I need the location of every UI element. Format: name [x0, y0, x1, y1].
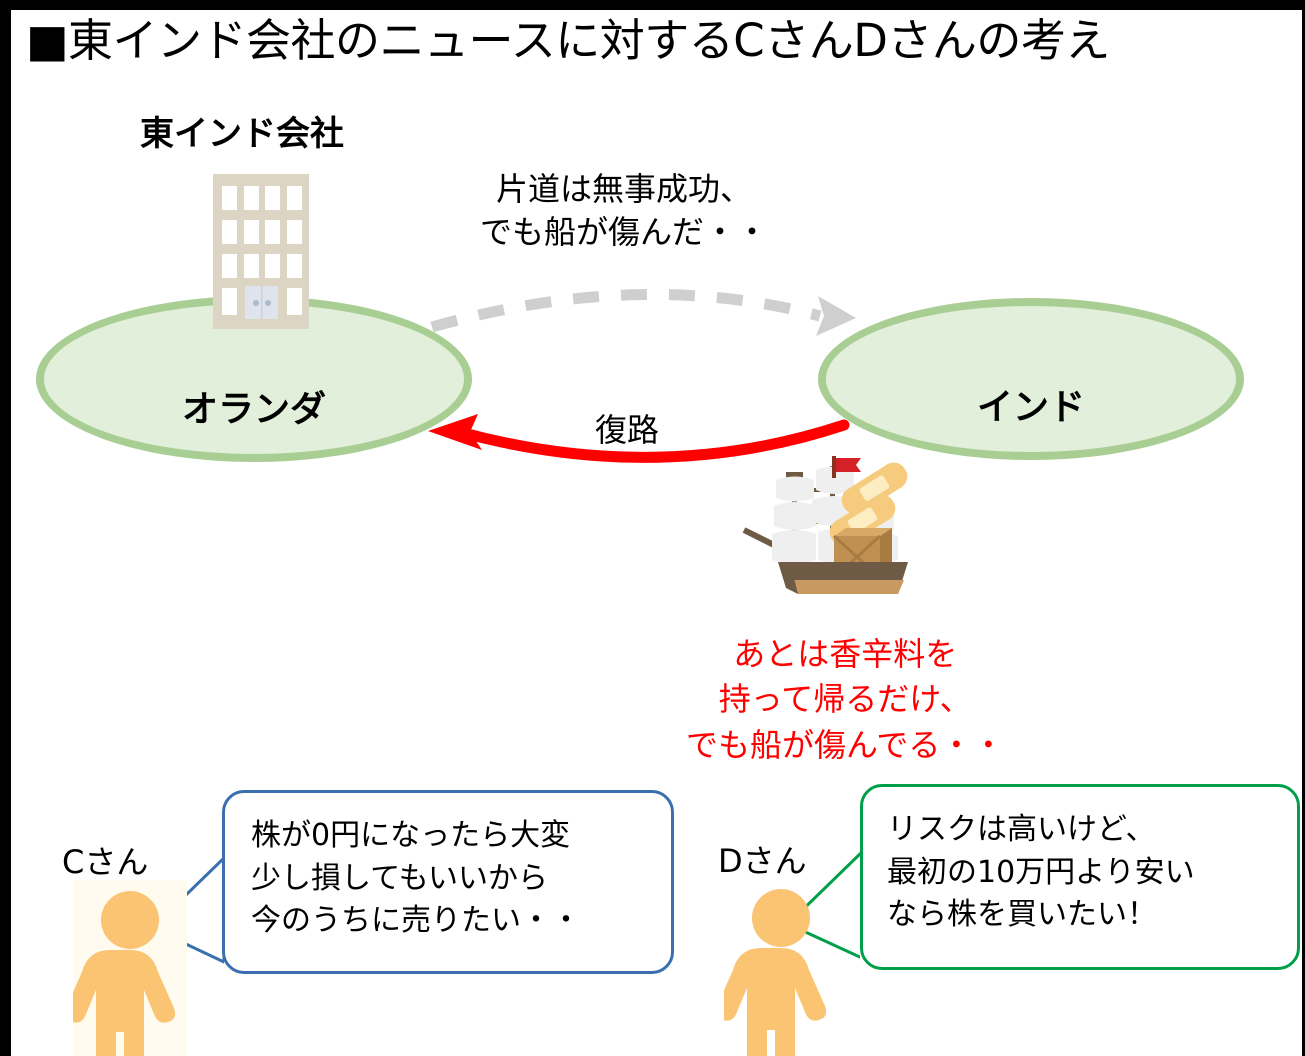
dashed-curved-arrow-icon	[432, 294, 856, 336]
region-india: インド	[818, 298, 1244, 460]
person-d-label: Dさん	[718, 836, 807, 882]
office-building-icon	[213, 174, 309, 329]
person-figure-icon-c	[73, 880, 187, 1056]
return-route-label: 復路	[595, 405, 659, 451]
speech-bubble-d-text: リスクは高いけど、 最初の10万円より安い なら株を買いたい！	[887, 809, 1195, 937]
speech-bubble-c: 株が0円になったら大変 少し損してもいいから 今のうちに売りたい・・	[222, 790, 674, 974]
outbound-note: 片道は無事成功、 でも船が傷んだ・・	[480, 168, 768, 254]
region-netherlands-label: オランダ	[44, 380, 464, 432]
company-label: 東インド会社	[140, 106, 344, 155]
speech-bubble-c-text: 株が0円になったら大変 少し損してもいいから 今のうちに売りたい・・	[251, 815, 581, 943]
person-c-label: Cさん	[62, 837, 148, 883]
region-india-label: インド	[826, 378, 1236, 430]
frame-left-border	[0, 0, 11, 1056]
speech-bubble-d: リスクは高いけど、 最初の10万円より安い なら株を買いたい！	[860, 784, 1300, 970]
frame-top-border	[0, 0, 1305, 10]
ship-condition-note: あとは香辛料を 持って帰るだけ、 でも船が傷んでる・・	[686, 632, 1004, 768]
page-title: ■東インド会社のニュースに対するCさんDさんの考え	[26, 14, 1110, 68]
slide-canvas: ■東インド会社のニュースに対するCさんDさんの考え 東インド会社 オランダ イン…	[0, 0, 1305, 1056]
person-figure-icon-d	[724, 878, 838, 1056]
sailing-ship-icon	[742, 448, 914, 608]
